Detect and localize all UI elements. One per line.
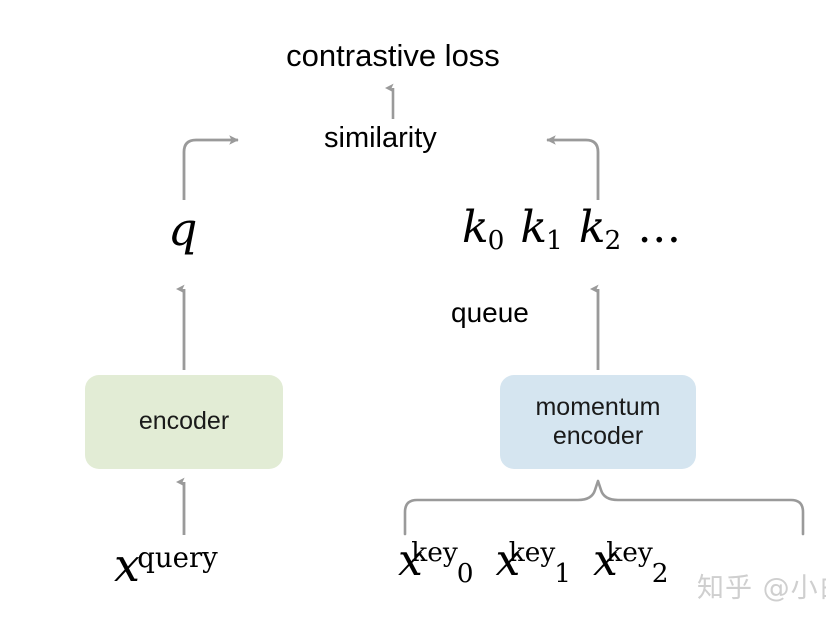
momentum-encoder-box-label: momentumencoder bbox=[535, 393, 660, 452]
query-representation-symbol: q bbox=[168, 206, 197, 252]
momentum-encoder-line2: encoder bbox=[553, 422, 643, 450]
momentum-encoder-line1: momentum bbox=[535, 393, 660, 421]
key-inputs-brace bbox=[405, 481, 803, 534]
key-symbol-0: k0 bbox=[462, 202, 504, 253]
key-representations-row: k0k1k2… bbox=[462, 206, 683, 255]
watermark: 知乎 @小白 bbox=[697, 566, 826, 605]
x-query-input-symbol: xquery bbox=[114, 542, 218, 588]
contrastive-loss-label: contrastive loss bbox=[0, 40, 786, 71]
key-symbol-1: k1 bbox=[520, 202, 562, 253]
x-key-symbol-0: xkey0 bbox=[398, 535, 474, 586]
arrow-q-to-similarity bbox=[184, 140, 238, 200]
key-symbol-2: k2 bbox=[579, 202, 621, 253]
encoder-box-label: encoder bbox=[139, 407, 229, 437]
key-ellipsis: … bbox=[637, 202, 683, 253]
similarity-label: similarity bbox=[324, 124, 437, 153]
q-variable: q bbox=[168, 202, 197, 256]
moco-diagram: contrastive loss similarity queue q k0k1… bbox=[0, 0, 826, 634]
x-key-inputs-row: xkey0xkey1xkey2 bbox=[398, 539, 691, 588]
encoder-box: encoder bbox=[85, 375, 283, 469]
x-key-symbol-1: xkey1 bbox=[496, 535, 572, 586]
momentum-encoder-box: momentumencoder bbox=[500, 375, 696, 469]
queue-label: queue bbox=[451, 299, 529, 327]
arrow-keys-to-similarity bbox=[547, 140, 598, 200]
x-key-symbol-2: xkey2 bbox=[593, 535, 669, 586]
